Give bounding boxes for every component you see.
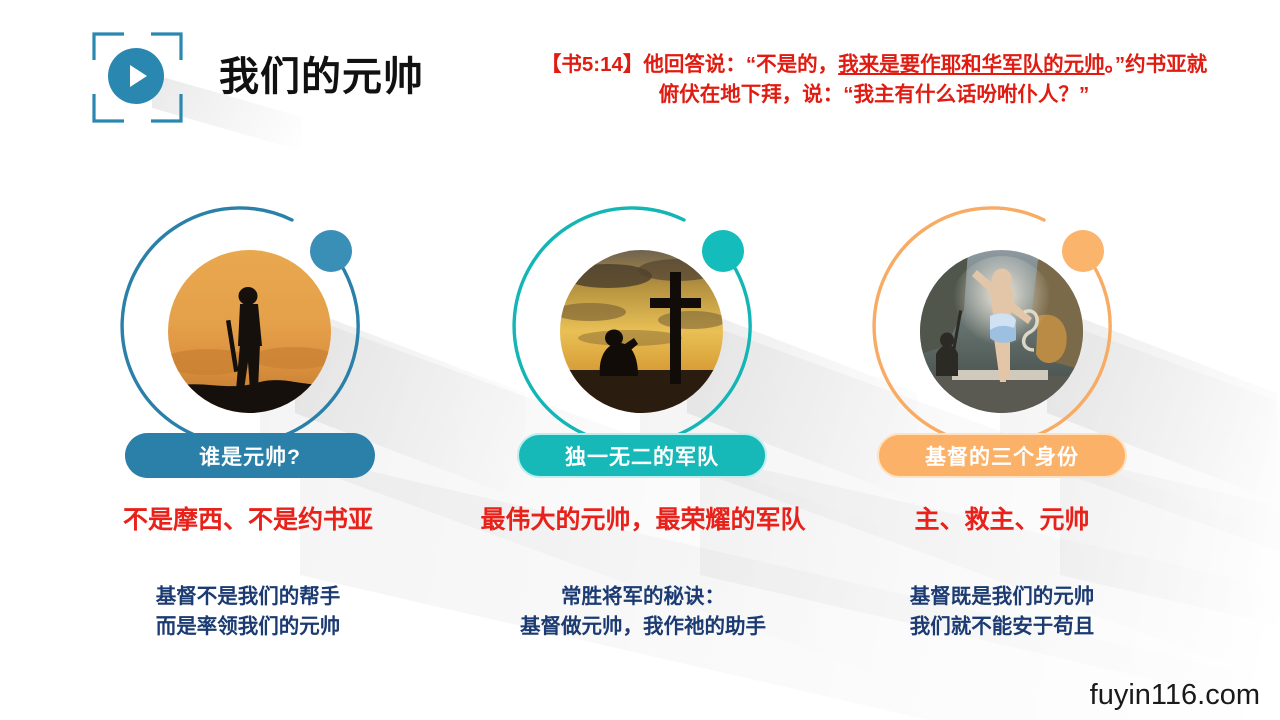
column-text-3: 主、救主、元帅 基督既是我们的元帅 我们就不能安于苟且 xyxy=(837,503,1167,642)
card-who-is-commander[interactable]: 谁是元帅? xyxy=(105,205,395,495)
column-headline: 不是摩西、不是约书亚 xyxy=(83,503,413,537)
site-watermark: fuyin116.com xyxy=(1090,679,1260,712)
card-pill-label[interactable]: 独一无二的军队 xyxy=(517,433,767,478)
column-body-line2: 我们就不能安于苟且 xyxy=(837,612,1167,642)
card-pill-label[interactable]: 谁是元帅? xyxy=(125,433,375,478)
scripture-underlined: 我来是要作耶和华军队的元帅 xyxy=(838,53,1105,76)
column-headline: 主、救主、元帅 xyxy=(837,503,1167,537)
card-row: 谁是元帅? xyxy=(0,205,1280,495)
scripture-part1: 他回答说：“不是的， xyxy=(643,53,838,76)
card-three-identities[interactable]: 基督的三个身份 xyxy=(857,205,1147,495)
risen-christ-painting-photo xyxy=(920,250,1083,413)
column-text-2: 最伟大的元帅，最荣耀的军队 常胜将军的秘诀： 基督做元帅，我作祂的助手 xyxy=(478,503,808,642)
ring-dot xyxy=(310,230,352,272)
card-pill-label[interactable]: 基督的三个身份 xyxy=(877,433,1127,478)
soldier-silhouette-sunset-photo xyxy=(168,250,331,413)
column-body-line2: 基督做元帅，我作祂的助手 xyxy=(478,612,808,642)
card-unique-army[interactable]: 独一无二的军队 xyxy=(497,205,787,495)
column-text-1: 不是摩西、不是约书亚 基督不是我们的帮手 而是率领我们的元帅 xyxy=(83,503,413,642)
scripture-quote: 【书5:14】他回答说：“不是的，我来是要作耶和华军队的元帅。”约书亚就俯伏在地… xyxy=(534,50,1214,110)
play-circle-icon xyxy=(108,48,164,104)
column-body-line1: 基督不是我们的帮手 xyxy=(83,582,413,612)
column-body-line2: 而是率领我们的元帅 xyxy=(83,612,413,642)
slide-canvas: 我们的元帅 【书5:14】他回答说：“不是的，我来是要作耶和华军队的元帅。”约书… xyxy=(0,0,1280,720)
play-button-in-frame-icon xyxy=(90,30,185,125)
page-title: 我们的元帅 xyxy=(219,44,424,102)
column-body-line1: 常胜将军的秘诀： xyxy=(478,582,808,612)
column-headline: 最伟大的元帅，最荣耀的军队 xyxy=(478,503,808,537)
column-body: 基督既是我们的元帅 我们就不能安于苟且 xyxy=(837,582,1167,642)
ring-dot xyxy=(702,230,744,272)
column-body-line1: 基督既是我们的元帅 xyxy=(837,582,1167,612)
slide-header: 我们的元帅 【书5:14】他回答说：“不是的，我来是要作耶和华军队的元帅。”约书… xyxy=(0,0,1280,150)
column-body: 基督不是我们的帮手 而是率领我们的元帅 xyxy=(83,582,413,642)
ring-dot xyxy=(1062,230,1104,272)
scripture-reference: 【书5:14】 xyxy=(541,53,644,76)
play-triangle-icon xyxy=(130,65,147,87)
kneeling-at-cross-sunset-photo xyxy=(560,250,723,413)
column-body: 常胜将军的秘诀： 基督做元帅，我作祂的助手 xyxy=(478,582,808,642)
